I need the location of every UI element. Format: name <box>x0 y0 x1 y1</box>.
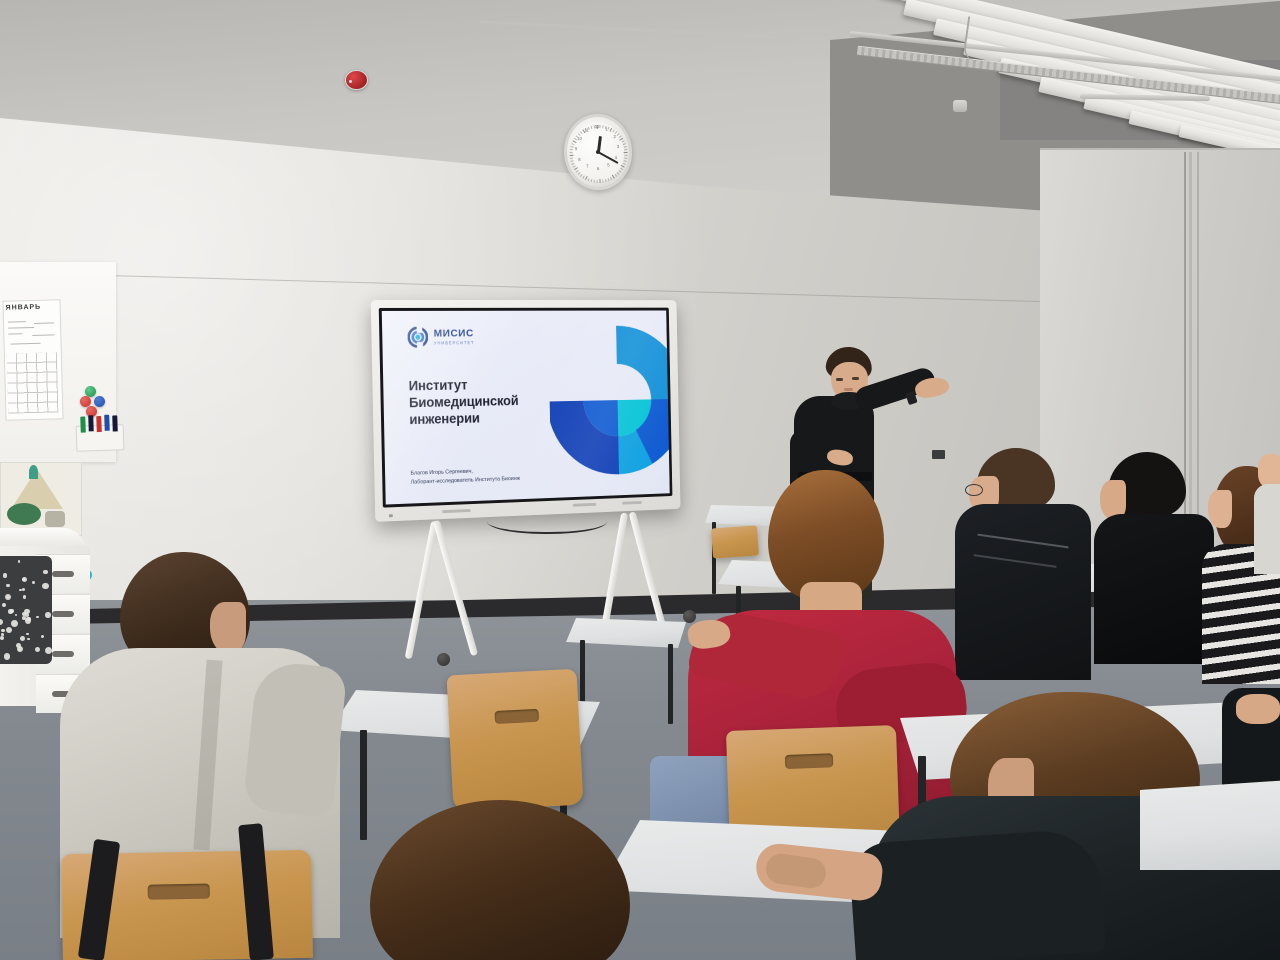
student-dark-hair-bottom <box>370 800 650 960</box>
hoodie-arm <box>848 827 1106 960</box>
wall-socket <box>932 450 945 459</box>
desk-foreground-right <box>1140 780 1280 870</box>
chair-center <box>447 669 584 812</box>
desk-leg <box>360 730 367 840</box>
classroom-photo: 121234567891011 ЯНВАРЬ <box>0 0 1280 960</box>
student-right-edge-hand <box>1236 694 1280 724</box>
